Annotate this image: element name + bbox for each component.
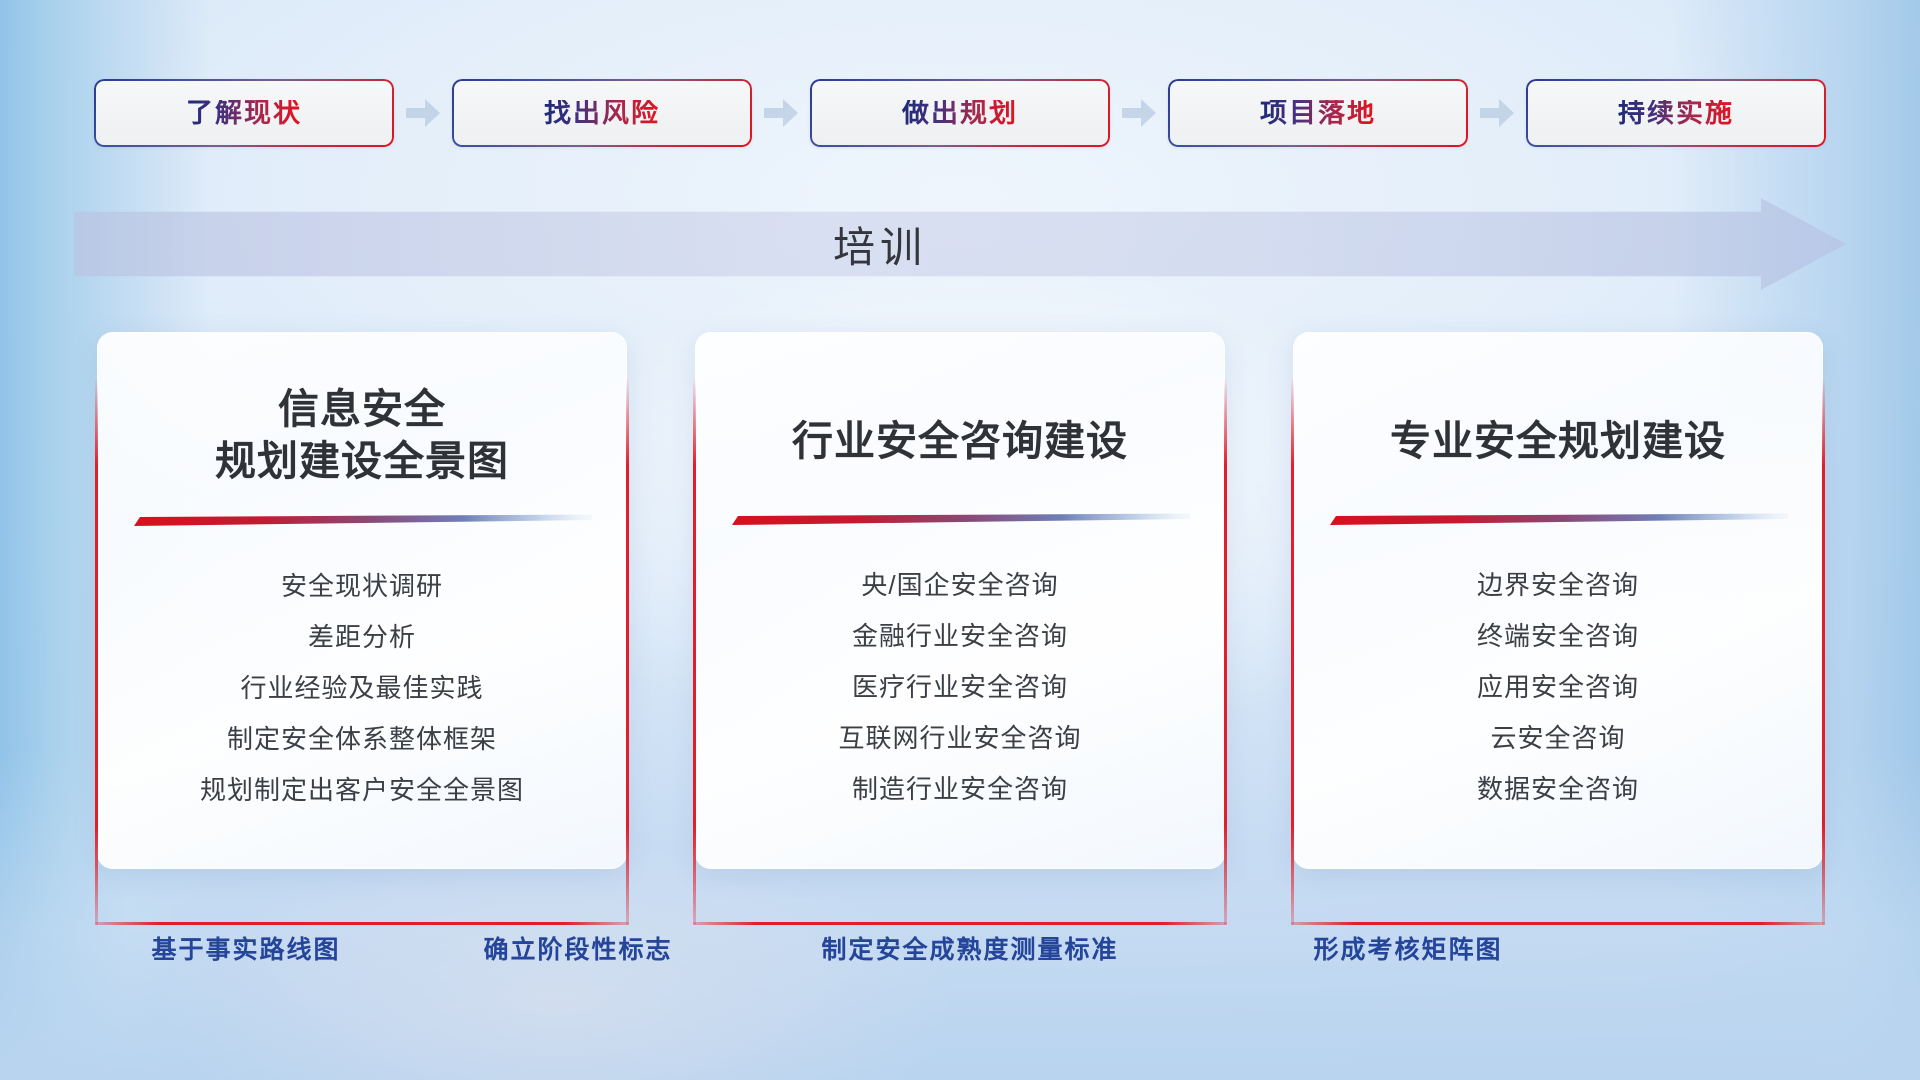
list-item: 医疗行业安全咨询 [852,674,1068,700]
process-step-row: 了解现状 找出风险 做出规划 项目落地 持续实施 [0,78,1920,148]
list-item: 数据安全咨询 [1477,776,1639,802]
list-item: 互联网行业安全咨询 [838,725,1081,751]
step-label-2: 找出风险 [544,100,660,127]
list-item: 安全现状调研 [281,573,443,599]
list-item: 央/国企安全咨询 [861,572,1058,598]
gradient-divider-icon [730,512,1190,530]
step-label-3: 做出规划 [902,100,1018,127]
card-right-accent [1224,378,1227,925]
card-left-accent [95,378,98,925]
list-item: 制定安全体系整体框架 [227,726,497,752]
right-arrow-icon [1122,99,1156,127]
caption-milestones: 确立阶段性标志 [483,930,672,966]
training-banner-title: 培训 [833,214,927,275]
gradient-divider-icon [1328,512,1788,530]
right-arrow-icon [764,99,798,127]
right-arrow-icon [1480,99,1514,127]
step-label-1: 了解现状 [186,100,302,127]
card-title: 专业安全规划建设 [1390,416,1726,468]
card-item-list: 安全现状调研 差距分析 行业经验及最佳实践 制定安全体系整体框架 规划制定出客户… [127,573,597,803]
list-item: 边界安全咨询 [1477,572,1639,598]
card-bottom-accent [693,922,1227,925]
list-item: 制造行业安全咨询 [852,776,1068,802]
right-arrow-icon [406,99,440,127]
step-box-1[interactable]: 了解现状 [94,79,394,147]
step-box-4[interactable]: 项目落地 [1168,79,1468,147]
card-item-list: 央/国企安全咨询 金融行业安全咨询 医疗行业安全咨询 互联网行业安全咨询 制造行… [725,572,1195,802]
card-industry-security-consulting[interactable]: 行业安全咨询建设 央/国企安全咨询 金融行 [695,332,1225,869]
caption-roadmap: 基于事实路线图 [151,930,340,966]
training-banner-title-wrap: 培训 [74,198,1846,290]
card-title: 行业安全咨询建设 [792,416,1128,468]
list-item: 应用安全咨询 [1477,674,1639,700]
card-row: 信息安全 规划建设全景图 安全现状调研 差 [0,332,1920,872]
caption-matrix: 形成考核矩阵图 [1313,930,1502,966]
card-title: 信息安全 规划建设全景图 [215,384,509,487]
step-box-3[interactable]: 做出规划 [810,79,1110,147]
step-label-4: 项目落地 [1260,100,1376,127]
caption-maturity-scale: 制定安全成熟度测量标准 [821,930,1118,966]
caption-row: 基于事实路线图 确立阶段性标志 制定安全成熟度测量标准 形成考核矩阵图 [0,930,1920,974]
step-label-5: 持续实施 [1618,100,1734,127]
list-item: 云安全咨询 [1490,725,1625,751]
list-item: 差距分析 [308,624,416,650]
step-box-2[interactable]: 找出风险 [452,79,752,147]
card-item-list: 边界安全咨询 终端安全咨询 应用安全咨询 云安全咨询 数据安全咨询 [1323,572,1793,802]
step-box-5[interactable]: 持续实施 [1526,79,1826,147]
list-item: 终端安全咨询 [1477,623,1639,649]
card-info-security-panorama[interactable]: 信息安全 规划建设全景图 安全现状调研 差 [97,332,627,869]
card-bottom-accent [95,922,629,925]
list-item: 规划制定出客户安全全景图 [200,777,524,803]
list-item: 金融行业安全咨询 [852,623,1068,649]
card-right-accent [1822,378,1825,925]
card-bottom-accent [1291,922,1825,925]
card-left-accent [1291,378,1294,925]
gradient-divider-icon [132,513,592,531]
card-right-accent [626,378,629,925]
card-professional-security-planning[interactable]: 专业安全规划建设 边界安全咨询 终端安全咨 [1293,332,1823,869]
training-banner: 培训 [74,198,1846,290]
list-item: 行业经验及最佳实践 [240,675,483,701]
card-left-accent [693,378,696,925]
